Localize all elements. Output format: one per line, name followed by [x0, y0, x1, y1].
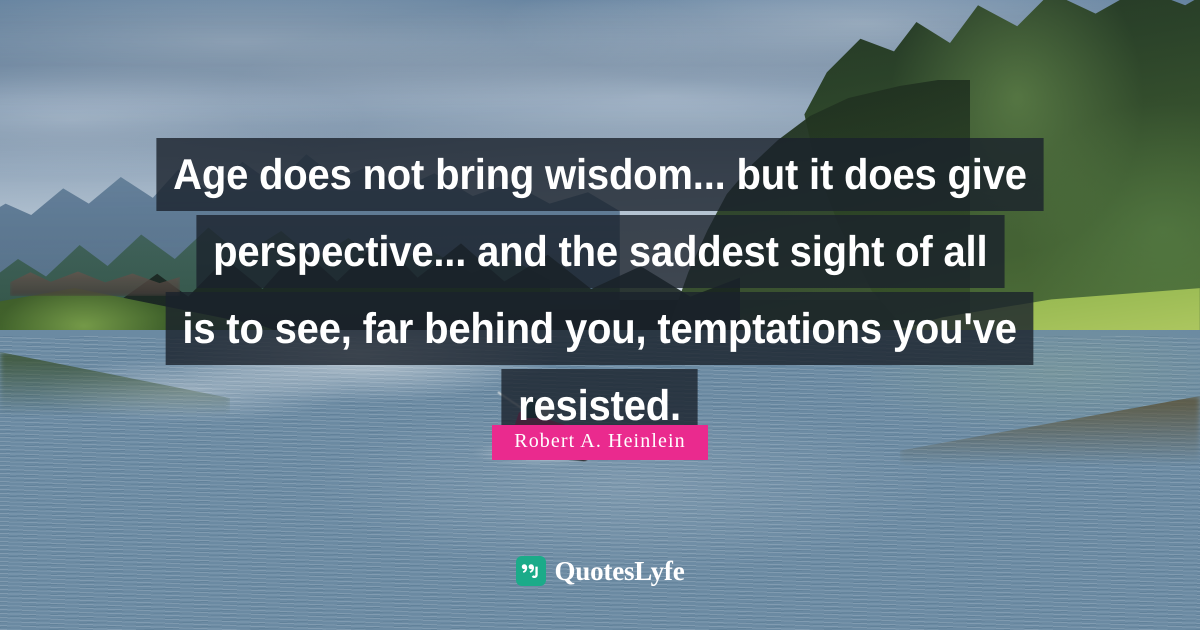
quote-marks-icon	[516, 556, 546, 586]
quote-line-1: Age does not bring wisdom... but it does…	[156, 138, 1043, 211]
quote-text-block: Age does not bring wisdom... but it does…	[0, 138, 1200, 446]
author-name-badge[interactable]: Robert A. Heinlein	[492, 425, 707, 460]
quote-card: Age does not bring wisdom... but it does…	[0, 0, 1200, 630]
author-badge-wrap: Robert A. Heinlein	[0, 425, 1200, 460]
quote-line-3: is to see, far behind you, temptations y…	[166, 292, 1034, 365]
quote-line-2: perspective... and the saddest sight of …	[196, 215, 1004, 288]
brand-logo[interactable]: QuotesLyfe	[0, 556, 1200, 586]
brand-name: QuotesLyfe	[555, 558, 685, 585]
